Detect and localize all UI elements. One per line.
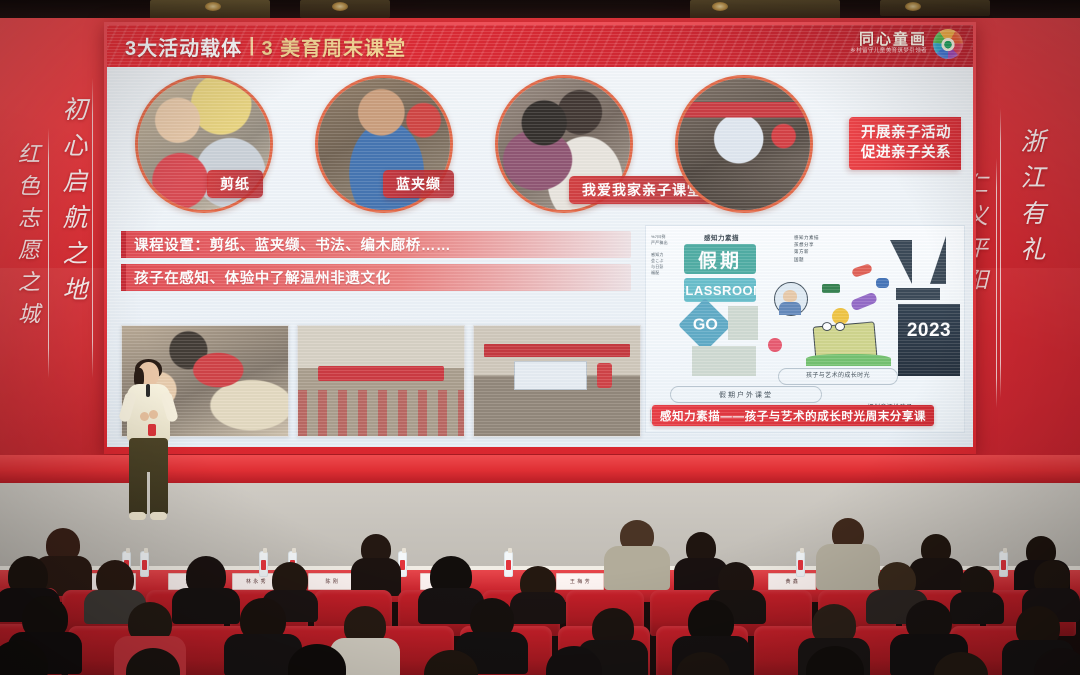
logo-subtitle: 乡村留守儿童美育筑梦引领者 [850,49,927,55]
poster-thumb [692,346,756,376]
lanyard-badge [148,424,156,436]
divider-line [1000,108,1001,398]
slide-header: 3大活动载体 | 3 美育周末课堂 同心童画 乡村留守儿童美育筑梦引领者 [107,25,973,67]
poster-swoosh-icon [930,236,946,284]
bar-tick [121,264,126,291]
photo-detail [298,390,464,436]
side-banner-line-1: 开展亲子活动 [861,124,951,144]
text-bar-experience-label: 孩子在感知、体验中了解温州非遗文化 [134,267,391,288]
poster-heading: 感知力素描 [704,232,739,242]
photo-banner [318,366,444,381]
poster-caption-box: 孩子与艺术的成长时光 [778,368,898,385]
led-screen: 3大活动载体 | 3 美育周末课堂 同心童画 乡村留守儿童美育筑梦引领者 剪纸 [107,25,973,447]
doodle-plane-icon [851,263,873,278]
backdrop-calligraphy-left-1: 初心启航之地 [60,96,85,312]
stage-light-icon [205,2,221,11]
microphone-icon [146,384,150,397]
slide-title: 3大活动载体 [125,32,242,61]
name-card: 王 梅 芳 [556,573,604,590]
poster-swoosh-icon [890,240,912,284]
divider-line [48,128,49,378]
side-banner-line-2: 促进亲子关系 [861,144,951,164]
bar-tick [121,231,126,258]
doodle-hill-icon [806,354,891,366]
doodle-bag-icon [876,278,889,288]
poster-thumb [728,306,758,340]
truss-beam [880,0,990,16]
poster-panel: %7曰例严严稿出感知力会こぶ与日彭福配 感知力素描 感知力素描孩想分享第方新国题… [645,225,965,433]
doodle-face-icon [783,290,797,302]
hand-left [140,412,149,421]
water-bottle [259,551,268,577]
poster-year: 2023 [898,304,960,376]
water-bottle [140,551,149,577]
doodle-flower-icon [768,338,782,352]
photo-detail [678,78,810,210]
brand-logo: 同心童画 乡村留守儿童美育筑梦引领者 [850,29,963,59]
stage-light-icon [905,2,921,11]
shoe-right [150,512,167,520]
logo-name: 同心童画 [850,33,927,49]
photo-projector-screen [514,361,587,390]
text-bar-curriculum: 课程设置：剪纸、蓝夹缬、书法、编木廊桥…… [121,231,631,258]
slide-subtitle: 3 美育周末课堂 [261,32,406,61]
rainbow-flower-logo-icon [933,29,963,59]
hand-right [149,410,158,419]
doodle-book-icon [822,284,840,293]
doodle-body-icon [779,302,801,315]
slide-title-separator: | [249,35,254,57]
divider-line [996,158,997,408]
bottom-photo-strip [121,325,641,437]
doodle-eye-icon [835,322,845,331]
photo-detail [597,363,612,387]
shoe-left [129,512,146,520]
poster-micro-text-2: 感知力素描孩想分享第方新国题 [794,234,819,263]
text-bar-curriculum-label: 课程设置：剪纸、蓝夹缬、书法、编木廊桥…… [134,234,451,255]
photo-caption-indigo: 蓝夹缬 [383,170,454,198]
water-bottle [504,551,513,577]
doodle-rocket-icon [850,292,878,312]
backdrop-calligraphy-right-1: 浙江有礼 [1018,128,1043,272]
poster-micro-text: %7曰例严严稿出感知力会こぶ与日彭福配 [651,234,668,276]
text-bar-group: 课程设置：剪纸、蓝夹缬、书法、编木廊桥…… 孩子在感知、体验中了解温州非遗文化 [121,231,631,291]
stage-light-icon [332,2,348,11]
poster-outline-box: 假期户外课堂 [670,386,822,403]
led-screen-bezel: 3大活动载体 | 3 美育周末课堂 同心童画 乡村留守儿童美育筑梦引领者 剪纸 [104,22,976,454]
leg-gap [147,472,150,514]
slide-body: 剪纸 蓝夹缬 我爱我家亲子课堂 开展亲子活动 促进亲子关系 [107,67,973,447]
speaker-person [118,362,180,527]
doodle-eye-icon [822,322,832,331]
backdrop-calligraphy-left-2: 红色志愿之城 [16,142,38,334]
photo-circle-classroom [675,75,813,213]
name-card: 黄 鑫 [768,573,816,590]
bottom-photo-lecture [473,325,641,437]
water-bottle [999,551,1008,577]
poster-chip-go: GO [678,298,732,352]
divider-line [92,78,93,378]
poster-chip-holiday: 假期 [684,244,756,274]
text-bar-experience: 孩子在感知、体验中了解温州非遗文化 [121,264,631,291]
poster-chip-classroom: CLASSROOM [684,278,756,302]
poster-red-banner: 感知力素描——孩子与艺术的成长时光周末分享课 [652,405,934,426]
side-banner-parent-child: 开展亲子活动 促进亲子关系 [849,117,961,170]
conference-scene: 初心启航之地 红色志愿之城 浙江有礼 仁义平阳 3大活动载体 | 3 美育周末课… [0,0,1080,675]
bottom-photo-group [297,325,465,437]
photo-circle-row: 剪纸 蓝夹缬 我爱我家亲子课堂 开展亲子活动 促进亲子关系 [117,75,963,223]
photo-caption-papercut: 剪纸 [207,170,263,198]
stage-light-icon [712,2,728,11]
poster-swoosh-icon [896,288,940,300]
water-bottle [796,551,805,577]
photo-banner [484,344,630,357]
name-card: 陈 刚 [308,573,356,590]
